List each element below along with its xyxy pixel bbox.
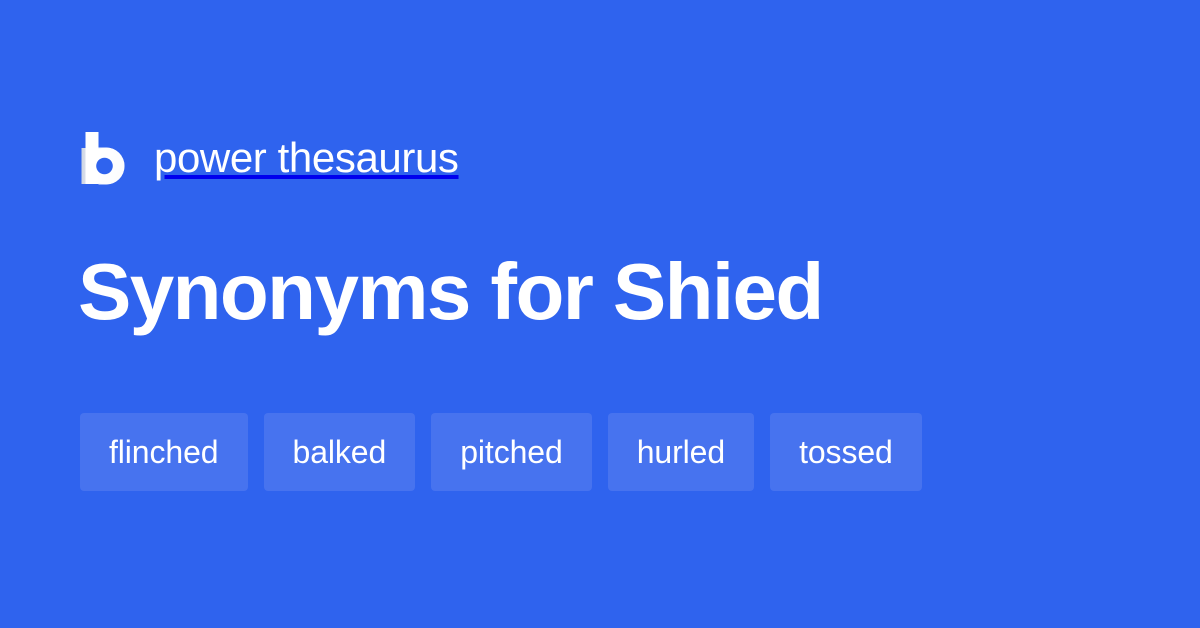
synonym-chip-row: flinched balked pitched hurled tossed: [80, 413, 922, 491]
synonym-chip-label: tossed: [799, 436, 893, 468]
synonym-chip[interactable]: tossed: [770, 413, 922, 491]
open-graph-card: power thesaurus Synonyms for Shied flinc…: [0, 0, 1200, 628]
page-title: Synonyms for Shied: [78, 252, 823, 332]
synonym-chip-label: pitched: [460, 436, 563, 468]
synonym-chip-label: flinched: [109, 436, 219, 468]
power-thesaurus-b-logo-icon: [80, 131, 126, 185]
synonym-chip[interactable]: balked: [264, 413, 416, 491]
synonym-chip[interactable]: hurled: [608, 413, 754, 491]
synonym-chip[interactable]: flinched: [80, 413, 248, 491]
synonym-chip-label: hurled: [637, 436, 725, 468]
synonym-chip-label: balked: [293, 436, 387, 468]
brand-logo-link[interactable]: power thesaurus: [80, 128, 459, 188]
brand-name-text: power thesaurus: [154, 137, 459, 179]
synonym-chip[interactable]: pitched: [431, 413, 592, 491]
